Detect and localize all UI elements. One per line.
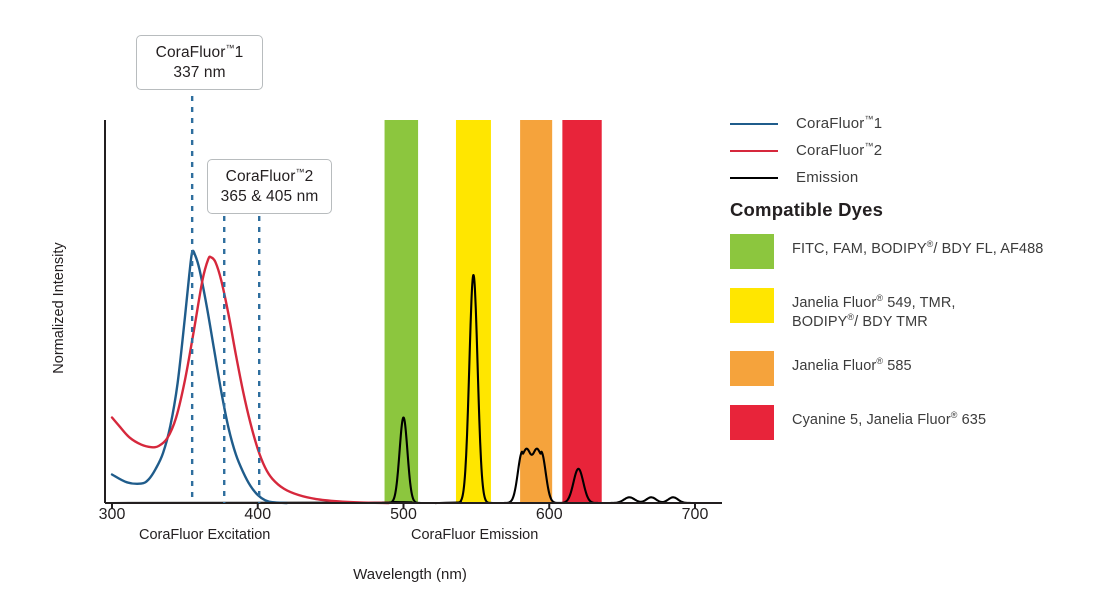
emission-region-label: CoraFluor Emission xyxy=(411,527,538,543)
dye-legend-row-0[interactable]: FITC, FAM, BODIPY®/ BDY FL, AF488 xyxy=(730,234,1105,269)
dye-color-swatch xyxy=(730,288,774,323)
dye-band-0 xyxy=(385,120,419,503)
dye-label: FITC, FAM, BODIPY®/ BDY FL, AF488 xyxy=(792,234,1043,259)
x-tick-label-600: 600 xyxy=(519,506,579,524)
callout-1-line2: 337 nm xyxy=(147,63,252,83)
callout-2-line1: CoraFluor™2 xyxy=(218,167,321,187)
spectra-chart-figure: CoraFluor™1 337 nm CoraFluor™2 365 & 405… xyxy=(0,0,1110,612)
dye-band-2 xyxy=(520,120,552,503)
y-axis-label: Normalized Intensity xyxy=(51,218,67,398)
legend-item-1[interactable]: CoraFluor™2 xyxy=(730,137,1100,164)
x-tick-label-400: 400 xyxy=(228,506,288,524)
x-axis-title: Wavelength (nm) xyxy=(0,566,820,583)
dye-band-3 xyxy=(562,120,601,503)
series-legend: CoraFluor™1CoraFluor™2Emission xyxy=(730,110,1100,191)
x-tick-label-300: 300 xyxy=(82,506,142,524)
legend-line-swatch xyxy=(730,123,778,125)
x-tick-label-700: 700 xyxy=(665,506,725,524)
legend-item-label: CoraFluor™1 xyxy=(796,115,882,132)
dye-label: Janelia Fluor® 585 xyxy=(792,351,912,376)
legend-item-label: CoraFluor™2 xyxy=(796,142,882,159)
dye-label: Cyanine 5, Janelia Fluor® 635 xyxy=(792,405,986,430)
legend-item-label: Emission xyxy=(796,169,858,186)
compatible-dyes-title: Compatible Dyes xyxy=(730,199,883,221)
legend-line-swatch xyxy=(730,177,778,179)
excitation-region-label: CoraFluor Excitation xyxy=(139,527,270,543)
dye-color-swatch xyxy=(730,405,774,440)
legend-item-2[interactable]: Emission xyxy=(730,164,1100,191)
callout-corafluor-2: CoraFluor™2 365 & 405 nm xyxy=(207,159,332,214)
excitation-curve-2 xyxy=(112,257,389,503)
dye-legend-row-3[interactable]: Cyanine 5, Janelia Fluor® 635 xyxy=(730,405,1105,440)
dye-band-1 xyxy=(456,120,491,503)
legend-item-0[interactable]: CoraFluor™1 xyxy=(730,110,1100,137)
dye-legend-row-2[interactable]: Janelia Fluor® 585 xyxy=(730,351,1105,386)
callout-2-line2: 365 & 405 nm xyxy=(218,187,321,207)
dye-color-swatch xyxy=(730,351,774,386)
excitation-curve-1 xyxy=(112,251,287,503)
dye-legend-row-1[interactable]: Janelia Fluor® 549, TMR,BODIPY®/ BDY TMR xyxy=(730,288,1105,332)
legend-line-swatch xyxy=(730,150,778,152)
dye-color-swatch xyxy=(730,234,774,269)
dye-label: Janelia Fluor® 549, TMR,BODIPY®/ BDY TMR xyxy=(792,288,956,332)
callout-corafluor-1: CoraFluor™1 337 nm xyxy=(136,35,263,90)
x-tick-label-500: 500 xyxy=(374,506,434,524)
callout-1-line1: CoraFluor™1 xyxy=(147,43,252,63)
compatible-dyes-list: FITC, FAM, BODIPY®/ BDY FL, AF488Janelia… xyxy=(730,234,1105,459)
